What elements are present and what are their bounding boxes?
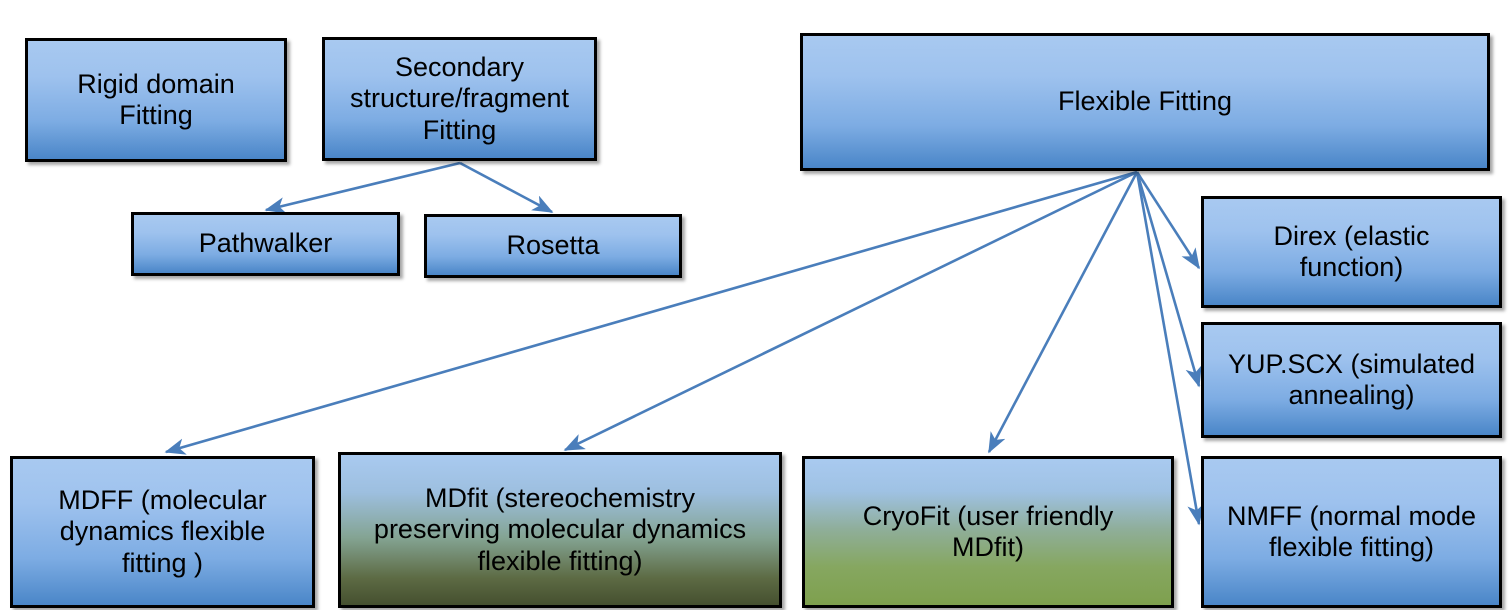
node-label-rigid-domain-fitting: Rigid domain Fitting (34, 69, 278, 132)
connector-secondary-to-pathwalker (266, 163, 460, 210)
node-label-secondary-structure-fragment-fitting: Secondary structure/fragment Fitting (331, 52, 588, 146)
diagram-canvas: Rigid domain FittingSecondary structure/… (0, 0, 1512, 610)
node-label-yup-scx: YUP.SCX (simulated annealing) (1210, 349, 1493, 412)
connector-secondary-to-rosetta (460, 163, 552, 212)
node-mdff[interactable]: MDFF (molecular dynamics flexible fittin… (10, 456, 315, 608)
connector-flexible-to-direx (1137, 172, 1199, 268)
node-rosetta[interactable]: Rosetta (424, 214, 682, 278)
node-label-mdfit: MDfit (stereochemistry preserving molecu… (347, 483, 773, 577)
connector-flexible-to-cryofit (989, 172, 1137, 452)
node-rigid-domain-fitting[interactable]: Rigid domain Fitting (25, 38, 287, 162)
node-label-direx: Direx (elastic function) (1210, 221, 1493, 284)
node-label-pathwalker: Pathwalker (140, 228, 391, 259)
node-label-cryofit: CryoFit (user friendly MDfit) (811, 501, 1165, 564)
node-mdfit[interactable]: MDfit (stereochemistry preserving molecu… (338, 452, 782, 608)
node-label-nmff: NMFF (normal mode flexible fitting) (1210, 501, 1493, 564)
node-secondary-structure-fragment-fitting[interactable]: Secondary structure/fragment Fitting (322, 37, 597, 161)
node-label-flexible-fitting: Flexible Fitting (809, 86, 1481, 117)
node-direx[interactable]: Direx (elastic function) (1201, 196, 1502, 308)
node-nmff[interactable]: NMFF (normal mode flexible fitting) (1201, 456, 1502, 608)
connector-flexible-to-yupscx (1137, 172, 1199, 386)
node-cryofit[interactable]: CryoFit (user friendly MDfit) (802, 456, 1174, 608)
node-label-mdff: MDFF (molecular dynamics flexible fittin… (19, 485, 306, 579)
node-flexible-fitting[interactable]: Flexible Fitting (800, 33, 1490, 171)
node-pathwalker[interactable]: Pathwalker (131, 212, 400, 276)
node-label-rosetta: Rosetta (433, 230, 673, 261)
node-yup-scx[interactable]: YUP.SCX (simulated annealing) (1201, 322, 1502, 438)
